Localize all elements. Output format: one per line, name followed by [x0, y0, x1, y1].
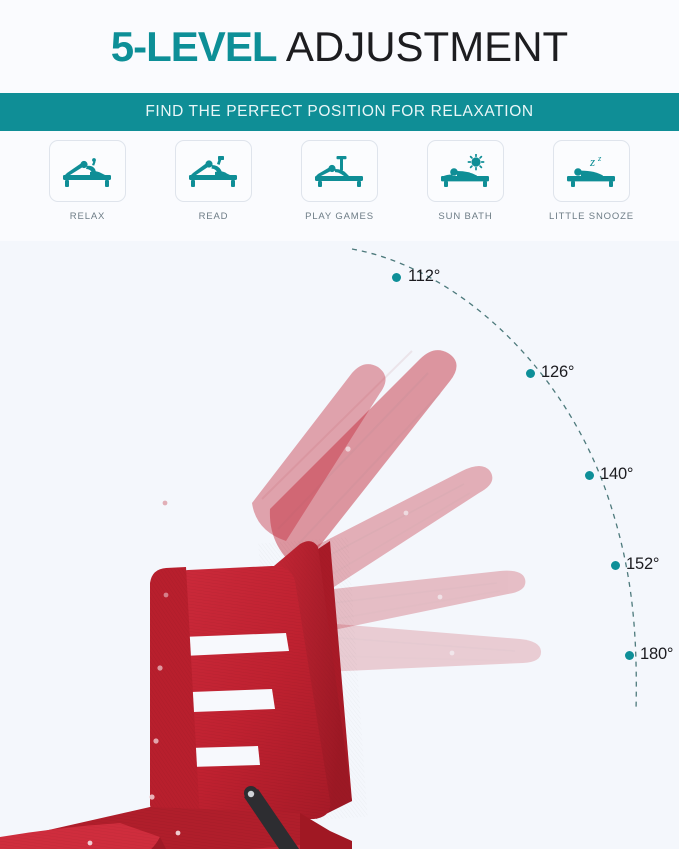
title-rest: ADJUSTMENT [277, 23, 569, 70]
angle-dot-112 [392, 273, 401, 282]
product-illustration-stage: 112° 126° 140° 152° 180° [0, 241, 679, 849]
person-sunbathing-icon [439, 154, 493, 188]
angle-label-180: 180° [640, 645, 673, 664]
subtitle-bar: FIND THE PERFECT POSITION FOR RELAXATION [0, 93, 679, 131]
feature-item-play-games[interactable]: PLAY GAMES [295, 140, 385, 222]
icon-box-sun-bath [427, 140, 504, 202]
solid-chair [0, 501, 394, 849]
angle-dot-126 [526, 369, 535, 378]
snooze-z-glyph: z [589, 154, 595, 169]
icon-box-read [175, 140, 252, 202]
headline-banner: 5-LEVEL ADJUSTMENT [0, 0, 679, 93]
feature-icon-row: RELAX READ [0, 131, 679, 241]
chaise-lounge-diagram [0, 241, 679, 849]
feature-label-read: READ [199, 211, 229, 222]
feature-label-sun-bath: SUN BATH [438, 211, 492, 222]
angle-label-152: 152° [626, 555, 659, 574]
person-gaming-icon [313, 154, 367, 188]
feature-label-little-snooze: LITTLE SNOOZE [549, 211, 634, 222]
angle-dot-180 [625, 651, 634, 660]
feature-label-relax: RELAX [70, 211, 105, 222]
subtitle-text: FIND THE PERFECT POSITION FOR RELAXATION [145, 103, 533, 121]
person-reading-icon [187, 154, 241, 188]
angle-label-112: 112° [408, 267, 440, 286]
angle-dot-140 [585, 471, 594, 480]
feature-item-read[interactable]: READ [169, 140, 259, 222]
feature-item-sun-bath[interactable]: SUN BATH [421, 140, 511, 222]
icon-box-little-snooze: z z [553, 140, 630, 202]
title-accent: 5-LEVEL [111, 23, 277, 70]
icon-box-relax [49, 140, 126, 202]
page-title: 5-LEVEL ADJUSTMENT [111, 26, 568, 68]
icon-box-play-games [301, 140, 378, 202]
angle-dot-152 [611, 561, 620, 570]
angle-label-140: 140° [600, 465, 633, 484]
feature-item-little-snooze[interactable]: z z LITTLE SNOOZE [547, 140, 637, 222]
snooze-z-sup-glyph: z [597, 154, 602, 163]
person-sleeping-icon: z z [565, 154, 619, 188]
angle-label-126: 126° [541, 363, 574, 382]
person-reclining-icon [61, 154, 115, 188]
feature-label-play-games: PLAY GAMES [305, 211, 374, 222]
feature-item-relax[interactable]: RELAX [43, 140, 133, 222]
